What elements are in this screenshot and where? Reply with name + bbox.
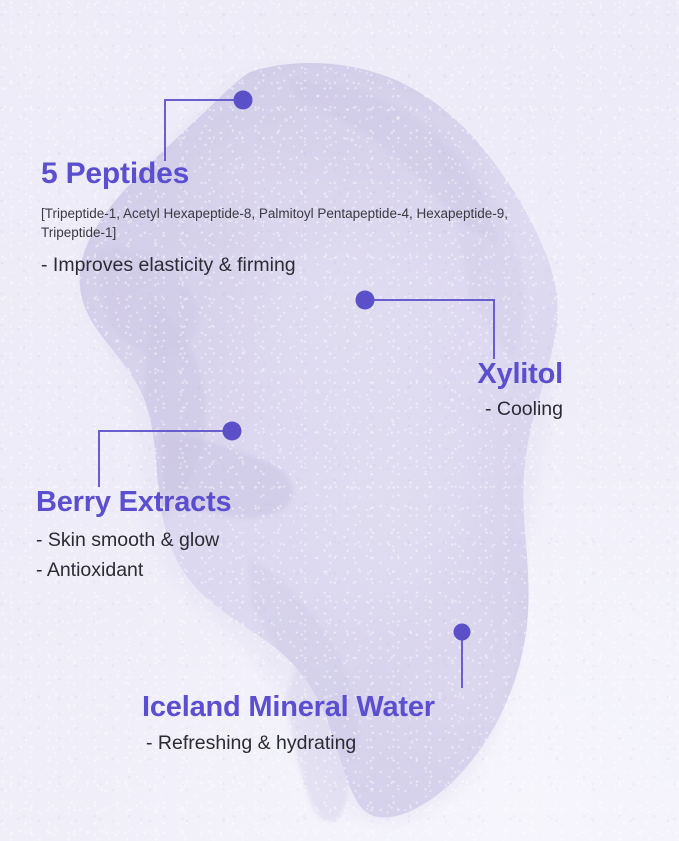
callout-benefit-berry-extracts-1: - Antioxidant: [36, 556, 232, 585]
callout-benefit-iceland-mineral-water-0: - Refreshing & hydrating: [146, 729, 435, 758]
infographic-canvas: 5 Peptides [Tripeptide-1, Acetyl Hexapep…: [0, 0, 679, 841]
callout-berry-extracts: Berry Extracts - Skin smooth & glow - An…: [36, 487, 232, 585]
callout-xylitol: Xylitol - Cooling: [477, 359, 563, 425]
callout-benefit-berry-extracts-0: - Skin smooth & glow: [36, 526, 232, 555]
callout-heading-xylitol: Xylitol: [477, 359, 563, 389]
callout-formula-peptides: [Tripeptide-1, Acetyl Hexapeptide-8, Pal…: [41, 204, 521, 243]
callout-heading-peptides: 5 Peptides: [41, 158, 521, 190]
callout-benefit-peptides-0: - Improves elasticity & firming: [41, 251, 521, 280]
callout-heading-iceland-mineral-water: Iceland Mineral Water: [142, 692, 435, 722]
callout-benefit-xylitol-0: - Cooling: [477, 395, 563, 424]
callout-iceland-mineral-water: Iceland Mineral Water - Refreshing & hyd…: [142, 692, 435, 759]
callout-heading-berry-extracts: Berry Extracts: [36, 487, 232, 517]
callout-peptides: 5 Peptides [Tripeptide-1, Acetyl Hexapep…: [41, 158, 521, 280]
